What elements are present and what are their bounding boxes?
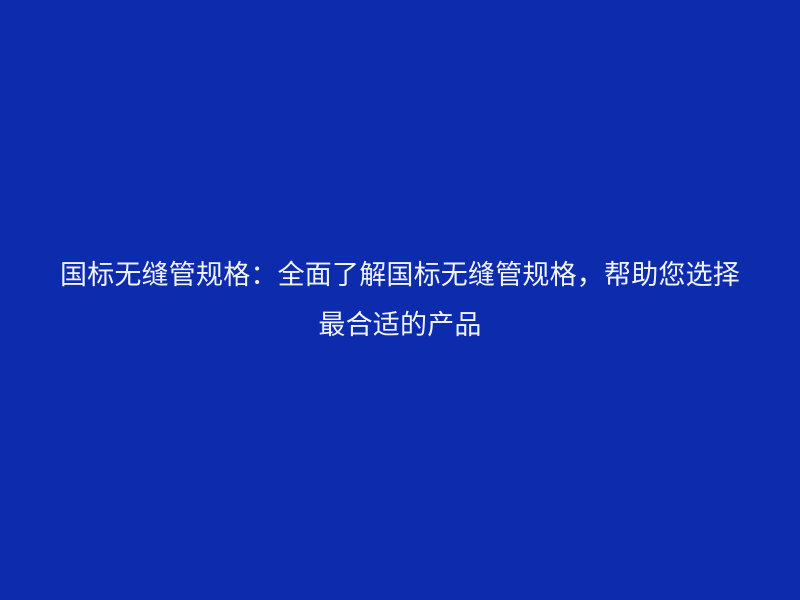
title-banner: 国标无缝管规格：全面了解国标无缝管规格，帮助您选择最合适的产品	[0, 0, 800, 600]
page-title: 国标无缝管规格：全面了解国标无缝管规格，帮助您选择最合适的产品	[50, 250, 750, 350]
title-container: 国标无缝管规格：全面了解国标无缝管规格，帮助您选择最合适的产品	[50, 250, 750, 350]
